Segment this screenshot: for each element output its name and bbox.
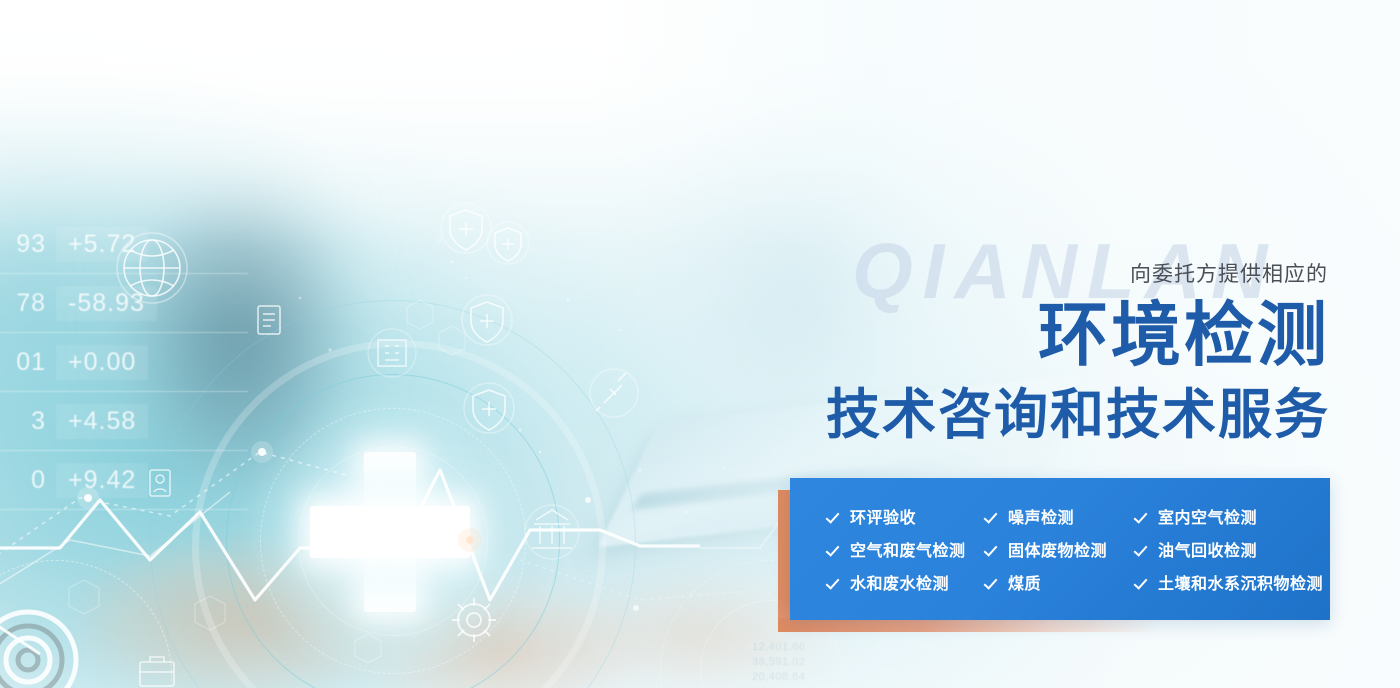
services-grid: 环评验收 噪声检测 室内空气检测 空气和废气检测 固体废物检测 油气回收检测 — [828, 504, 1323, 594]
banner-kicker: 向委托方提供相应的 — [1130, 258, 1328, 288]
service-item[interactable]: 煤质 — [986, 570, 1136, 594]
service-label: 环评验收 — [850, 504, 916, 528]
check-icon — [828, 575, 842, 589]
check-icon — [828, 509, 842, 523]
service-label: 室内空气检测 — [1158, 504, 1257, 528]
banner-title-primary: 环境检测 — [1038, 300, 1330, 370]
check-icon — [1136, 509, 1150, 523]
check-icon — [986, 509, 1000, 523]
check-icon — [1136, 575, 1150, 589]
service-item[interactable]: 空气和废气检测 — [828, 537, 986, 561]
service-label: 噪声检测 — [1008, 504, 1074, 528]
service-label: 土壤和水系沉积物检测 — [1158, 570, 1323, 594]
orange-accent-foot — [778, 618, 1158, 632]
service-label: 煤质 — [1008, 570, 1041, 594]
check-icon — [986, 575, 1000, 589]
service-item[interactable]: 固体废物检测 — [986, 537, 1136, 561]
service-item[interactable]: 土壤和水系沉积物检测 — [1136, 570, 1323, 594]
service-label: 固体废物检测 — [1008, 537, 1107, 561]
service-item[interactable]: 环评验收 — [828, 504, 986, 528]
service-label: 空气和废气检测 — [850, 537, 966, 561]
check-icon — [986, 542, 1000, 556]
banner-title-secondary: 技术咨询和技术服务 — [826, 388, 1330, 442]
services-panel: 环评验收 噪声检测 室内空气检测 空气和废气检测 固体废物检测 油气回收检测 — [790, 478, 1330, 620]
check-icon — [1136, 542, 1150, 556]
service-label: 水和废水检测 — [850, 570, 949, 594]
environmental-testing-banner: 93 +5.72 78 -58.93 01 +0.00 3 +4.58 0 +9… — [0, 0, 1400, 688]
service-item[interactable]: 油气回收检测 — [1136, 537, 1323, 561]
service-item[interactable]: 噪声检测 — [986, 504, 1136, 528]
check-icon — [828, 542, 842, 556]
service-item[interactable]: 室内空气检测 — [1136, 504, 1323, 528]
service-item[interactable]: 水和废水检测 — [828, 570, 986, 594]
service-label: 油气回收检测 — [1158, 537, 1257, 561]
